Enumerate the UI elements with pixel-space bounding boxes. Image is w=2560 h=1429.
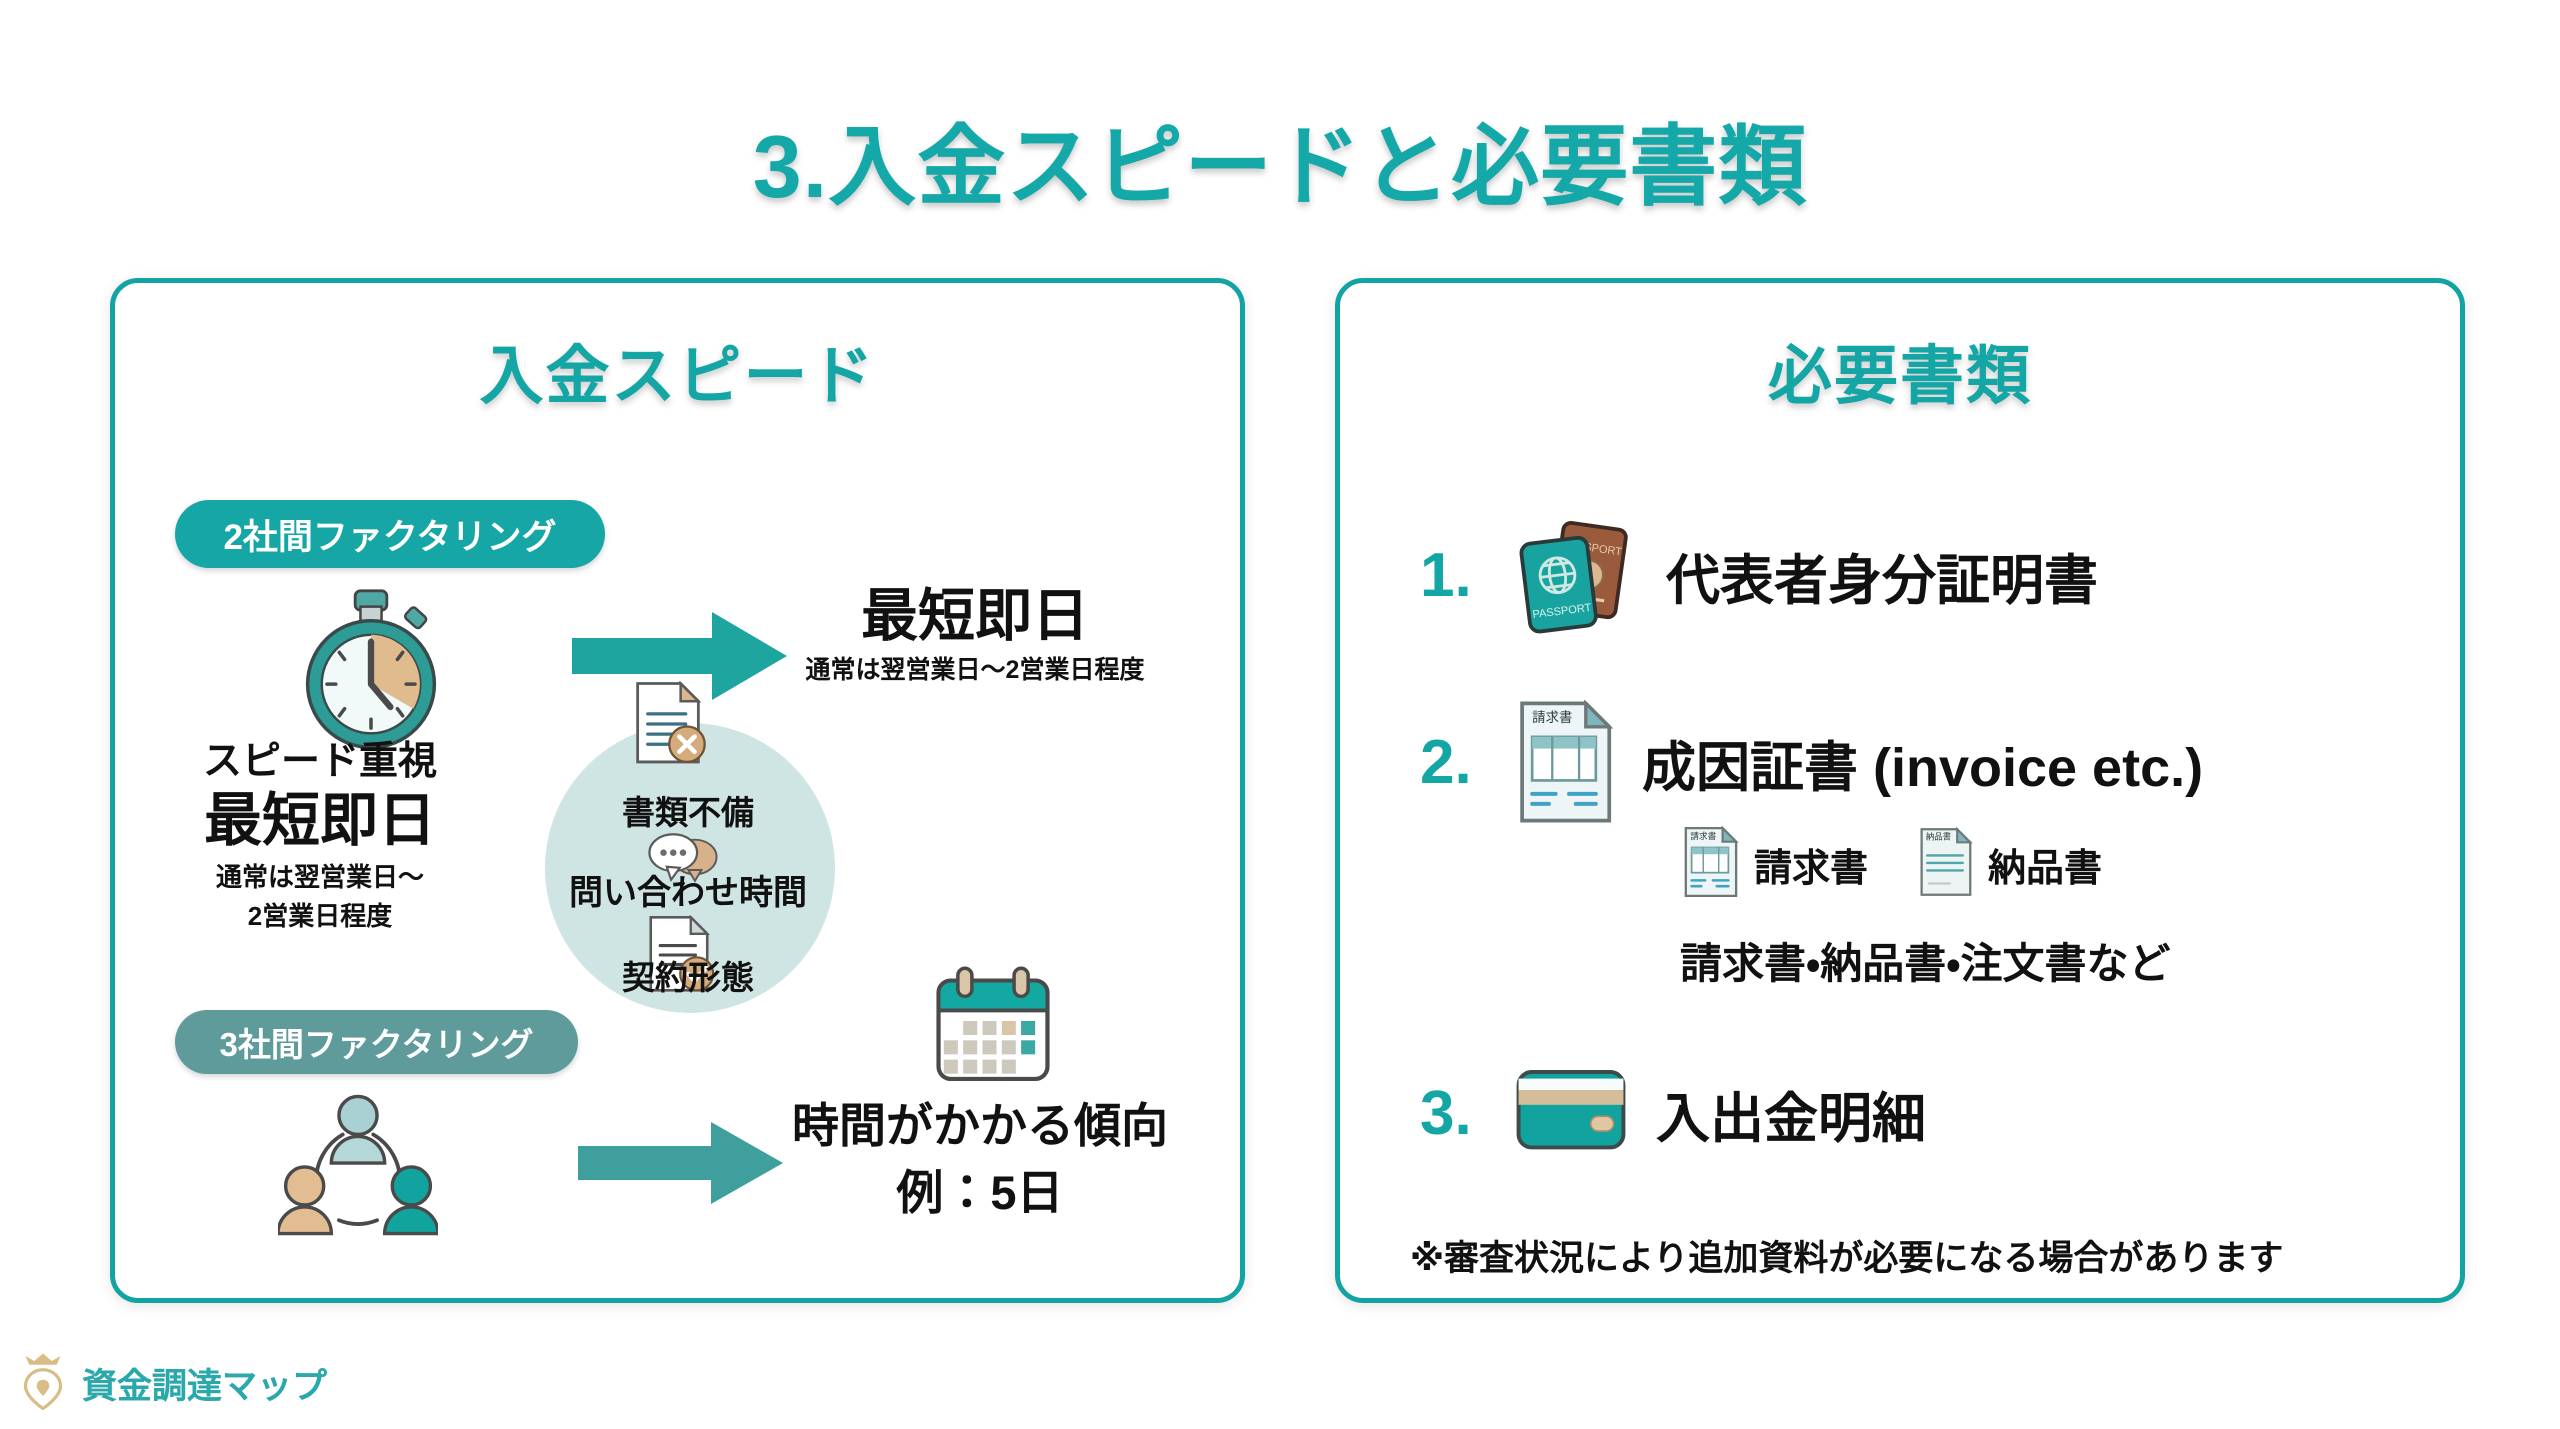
speed-focus-label: スピード重視: [130, 740, 510, 785]
svg-text:納品書: 納品書: [1926, 832, 1951, 842]
credit-card-icon: [1512, 1065, 1630, 1161]
left-panel-heading: 入金スピード: [115, 325, 1240, 417]
arrow-right-bottom: [578, 1122, 783, 1204]
bottom-result-headline: 時間がかかる傾向: [760, 1100, 1200, 1153]
crown-pin-logo-icon: [18, 1352, 68, 1415]
speed-focus-block: スピード重視 最短即日 通常は翌営業日〜 2営業日程度: [130, 740, 510, 933]
invoice-icon: 請求書: [1512, 700, 1616, 824]
speed-focus-note-line2: 2営業日程度: [130, 900, 510, 933]
sub-document-2-label: 納品書: [1988, 837, 2102, 892]
badge-three-party-label: 3社間ファクタリング: [219, 1018, 533, 1066]
document-item-3-number: 3.: [1420, 1078, 1512, 1149]
slide-root: 3.入金スピードと必要書類 入金スピード 2社間ファクタリング: [0, 0, 2560, 1429]
passport-icon: PASSPORT PASSPORT: [1512, 515, 1640, 635]
document-item-3: 3. 入出金明細: [1420, 1065, 1926, 1161]
sub-document-2: 納品書 納品書: [1916, 825, 2102, 904]
document-item-2-number: 2.: [1420, 727, 1512, 798]
document-item-3-label: 入出金明細: [1656, 1074, 1926, 1153]
three-people-icon: [278, 1090, 438, 1245]
page-title: 3.入金スピードと必要書類: [0, 96, 2560, 223]
svg-text:請求書: 請求書: [1532, 710, 1572, 725]
calendar-icon: [928, 963, 1058, 1098]
top-result-headline: 最短即日: [740, 585, 1210, 649]
document-item-2-label: 成因証書 (invoice etc.): [1642, 723, 2203, 802]
document-error-icon: [630, 681, 706, 772]
delivery-note-icon: 納品書: [1916, 825, 1974, 904]
bottom-result-example: 例：5日: [760, 1167, 1200, 1220]
factor-label-2: 問い合わせ時間: [543, 865, 833, 914]
factor-label-1: 書類不備: [543, 786, 833, 834]
site-logo[interactable]: 資金調達マップ: [18, 1352, 327, 1415]
bottom-result-block: 時間がかかる傾向 例：5日: [760, 1100, 1200, 1219]
top-result-block: 最短即日 通常は翌営業日〜2営業日程度: [740, 585, 1210, 686]
factor-label-3: 契約形態: [543, 951, 833, 999]
right-panel-heading: 必要書類: [1340, 325, 2460, 417]
sub-document-1: 請求書 請求書: [1680, 825, 1868, 904]
speed-focus-headline: 最短即日: [130, 789, 510, 854]
sub-documents-note: 請求書・納品書・注文書など: [1680, 930, 2171, 991]
invoice-small-icon: 請求書: [1680, 825, 1740, 904]
badge-three-party-factoring: 3社間ファクタリング: [175, 1010, 578, 1074]
speed-focus-note-line1: 通常は翌営業日〜: [130, 861, 510, 894]
site-logo-text: 資金調達マップ: [82, 1358, 327, 1409]
svg-text:請求書: 請求書: [1690, 830, 1716, 841]
delay-factors-circle: 書類不備 問い合わせ時間: [545, 723, 835, 1013]
top-result-note: 通常は翌営業日〜2営業日程度: [740, 655, 1210, 686]
sub-document-1-label: 請求書: [1754, 837, 1868, 892]
badge-two-party-factoring: 2社間ファクタリング: [175, 500, 605, 568]
required-documents-footnote: ※審査状況により追加資料が必要になる場合があります: [1410, 1230, 2283, 1281]
document-item-1-label: 代表者身分証明書: [1666, 536, 2098, 615]
stopwatch-icon: [283, 582, 459, 763]
document-item-1: 1. PASSPORT: [1420, 515, 2098, 635]
document-item-2: 2. 請求書 成因証書 (invoice etc.): [1420, 700, 2203, 824]
document-item-1-number: 1.: [1420, 540, 1512, 611]
badge-two-party-label: 2社間ファクタリング: [223, 509, 556, 560]
sub-documents-row: 請求書 請求書: [1680, 825, 2102, 904]
